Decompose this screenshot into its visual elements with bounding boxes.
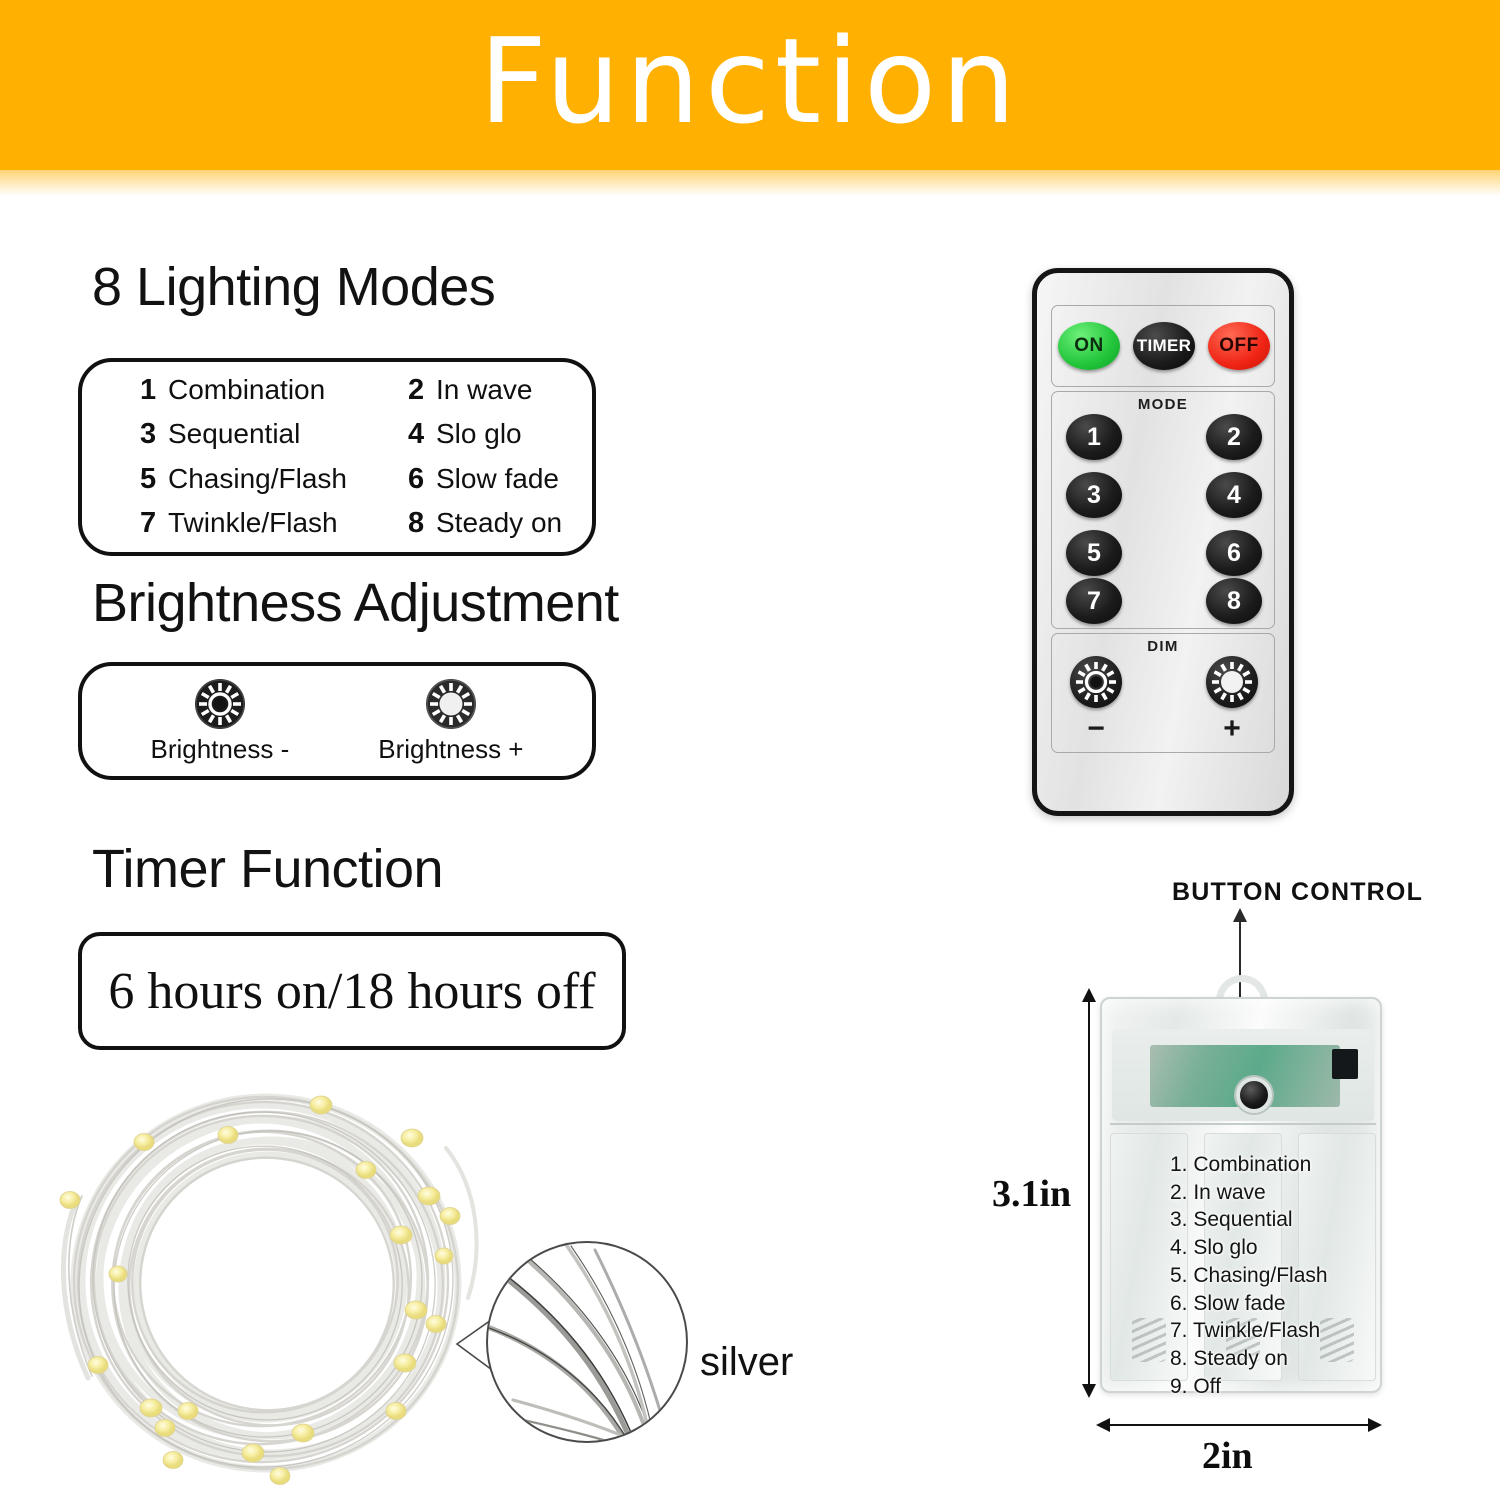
list-item: 6 Slow fade — [408, 463, 592, 496]
timer-value: 6 hours on/18 hours off — [82, 936, 622, 1046]
mode-label: Twinkle/Flash — [168, 507, 338, 539]
brightness-minus-label: Brightness - — [151, 734, 290, 765]
list-item: 7. Twinkle/Flash — [1170, 1317, 1380, 1345]
mode-label: Sequential — [168, 418, 300, 450]
height-dimension-label: 3.1in — [992, 1172, 1071, 1216]
silver-label: silver — [700, 1340, 793, 1385]
mode-number: 3 — [140, 418, 157, 451]
mode-label: Steady on — [436, 507, 562, 539]
lighting-modes-heading: 8 Lighting Modes — [92, 256, 495, 318]
sun-bright-icon — [1206, 656, 1258, 708]
remote-mode-button-4[interactable]: 4 — [1206, 472, 1262, 518]
remote-mode-legend: MODE — [1052, 396, 1274, 413]
height-dimension-line — [1088, 998, 1090, 1390]
mode-label: Chasing/Flash — [168, 463, 347, 495]
list-item: 7 Twinkle/Flash — [140, 507, 408, 540]
list-item: 5 Chasing/Flash — [140, 463, 408, 496]
brightness-adjustment-box: Brightness - — [78, 662, 596, 780]
brightness-row: Brightness - — [82, 666, 592, 776]
remote-mode-button-2[interactable]: 2 — [1206, 414, 1262, 460]
lighting-modes-box: 1 Combination 2 In wave 3 Sequential 4 S… — [78, 358, 596, 556]
remote-dim-minus-sign: − — [1070, 712, 1122, 746]
battery-box-push-button[interactable] — [1236, 1077, 1272, 1113]
battery-box-shell: 1. Combination 2. In wave 3. Sequential … — [1100, 997, 1382, 1393]
brightness-adjustment-heading: Brightness Adjustment — [92, 572, 619, 634]
battery-box-circuit-area — [1112, 1029, 1374, 1121]
mode-number: 2 — [408, 374, 425, 407]
timer-function-heading: Timer Function — [92, 838, 443, 900]
remote-mode-button-1[interactable]: 1 — [1066, 414, 1122, 460]
mode-label: Slo glo — [436, 418, 522, 450]
black-chip — [1332, 1049, 1358, 1079]
brightness-plus-label: Brightness + — [378, 734, 523, 765]
page-title: Function — [479, 22, 1021, 140]
remote-timer-button[interactable]: TIMER — [1133, 322, 1195, 370]
battery-box-image: 1. Combination 2. In wave 3. Sequential … — [1100, 975, 1382, 1393]
list-item: 6. Slow fade — [1170, 1290, 1380, 1318]
list-item: 3 Sequential — [140, 418, 408, 451]
timer-function-box: 6 hours on/18 hours off — [78, 932, 626, 1050]
remote-mode-panel: MODE 1 2 3 4 5 6 7 8 — [1051, 391, 1275, 629]
battery-box-divider — [1110, 1123, 1376, 1125]
list-item: 9. Off — [1170, 1373, 1380, 1401]
mode-label: In wave — [436, 374, 533, 406]
mode-number: 1 — [140, 374, 157, 407]
mode-number: 6 — [408, 463, 425, 496]
lighting-modes-grid: 1 Combination 2 In wave 3 Sequential 4 S… — [82, 362, 592, 552]
mode-label: Slow fade — [436, 463, 559, 495]
remote-dim-plus-sign: + — [1206, 712, 1258, 746]
height-arrow-bottom-icon — [1082, 1384, 1096, 1398]
mode-number: 7 — [140, 507, 157, 540]
remote-dim-panel: DIM — [1051, 633, 1275, 753]
list-item: 8 Steady on — [408, 507, 592, 540]
remote-control: ON TIMER OFF MODE 1 2 3 4 5 6 7 8 DIM — [1032, 268, 1294, 816]
width-arrow-right-icon — [1368, 1418, 1382, 1432]
battery-box-printed-mode-list: 1. Combination 2. In wave 3. Sequential … — [1170, 1151, 1380, 1400]
mode-label: Combination — [168, 374, 325, 406]
remote-mode-button-6[interactable]: 6 — [1206, 530, 1262, 576]
list-item: 1 Combination — [140, 374, 408, 407]
mode-number: 5 — [140, 463, 157, 496]
header-gradient-fade — [0, 170, 1500, 196]
list-item: 4 Slo glo — [408, 418, 592, 451]
remote-mode-button-5[interactable]: 5 — [1066, 530, 1122, 576]
brightness-minus-cell: Brightness - — [151, 678, 290, 765]
remote-on-button[interactable]: ON — [1058, 322, 1120, 370]
brightness-down-sun-icon — [194, 678, 246, 730]
list-item: 1. Combination — [1170, 1151, 1380, 1179]
page-header-banner: Function — [0, 0, 1500, 170]
brightness-up-sun-icon — [425, 678, 477, 730]
list-item: 8. Steady on — [1170, 1345, 1380, 1373]
list-item: 2. In wave — [1170, 1179, 1380, 1207]
silver-wire-callout: silver — [455, 1228, 855, 1458]
button-control-callout-label: BUTTON CONTROL — [1172, 878, 1423, 907]
mode-number: 4 — [408, 418, 425, 451]
brightness-plus-cell: Brightness + — [378, 678, 523, 765]
list-item: 3. Sequential — [1170, 1206, 1380, 1234]
list-item: 4. Slo glo — [1170, 1234, 1380, 1262]
remote-off-button[interactable]: OFF — [1208, 322, 1270, 370]
battery-spring-icon — [1132, 1318, 1166, 1362]
sun-dim-icon — [1070, 656, 1122, 708]
remote-dim-up-button[interactable] — [1206, 656, 1258, 708]
list-item: 5. Chasing/Flash — [1170, 1262, 1380, 1290]
remote-mode-button-8[interactable]: 8 — [1206, 578, 1262, 624]
width-dimension-label: 2in — [1202, 1434, 1253, 1478]
remote-mode-button-7[interactable]: 7 — [1066, 578, 1122, 624]
remote-dim-legend: DIM — [1052, 638, 1274, 655]
remote-power-panel: ON TIMER OFF — [1051, 305, 1275, 387]
string-light-coil-image — [48, 1078, 498, 1490]
remote-dim-down-button[interactable] — [1070, 656, 1122, 708]
width-dimension-line — [1108, 1424, 1370, 1426]
remote-mode-button-3[interactable]: 3 — [1066, 472, 1122, 518]
list-item: 2 In wave — [408, 374, 592, 407]
mode-number: 8 — [408, 507, 425, 540]
